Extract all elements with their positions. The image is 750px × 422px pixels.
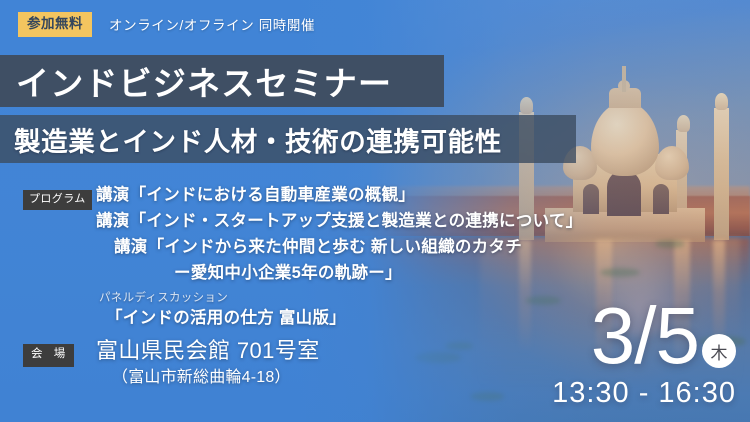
format-note: オンライン/オフライン 同時開催 <box>109 14 315 34</box>
list-item: ー愛知中小企業5年の軌跡ー」 <box>96 260 616 286</box>
main-title-bar: インドビジネスセミナー <box>0 55 444 107</box>
date-row: 3 / 5 木 <box>552 299 736 373</box>
event-day: 5 <box>656 299 700 373</box>
venue-address: （富山市新総曲輪4-18） <box>96 366 320 390</box>
list-item: 講演「インドから来た仲間と歩む 新しい組織のカタチ <box>96 234 616 260</box>
free-admission-badge: 参加無料 <box>18 12 92 37</box>
panel-discussion-label: パネルディスカッション <box>96 290 616 306</box>
event-month: 3 <box>591 299 635 373</box>
event-time: 13:30 - 16:30 <box>552 377 736 410</box>
date-separator: / <box>634 299 655 373</box>
list-item: 講演「インドにおける自動車産業の概観」 <box>96 182 616 208</box>
banner-content: 参加無料 オンライン/オフライン 同時開催 インドビジネスセミナー 製造業とイン… <box>0 0 750 422</box>
schedule-block: 3 / 5 木 13:30 - 16:30 <box>552 299 736 410</box>
venue-block: 富山県民会館 701号室 （富山市新総曲輪4-18） <box>96 336 320 390</box>
day-of-week-badge: 木 <box>702 334 736 368</box>
program-tag-wrapper: プログラム <box>23 189 92 210</box>
venue-tag-wrapper: 会 場 <box>23 344 74 367</box>
header-row: 参加無料 オンライン/オフライン 同時開催 <box>18 12 315 37</box>
venue-name: 富山県民会館 701号室 <box>96 336 320 366</box>
panel-discussion-title: 「インドの活用の仕方 富山版」 <box>96 306 616 330</box>
list-item: 講演「インド・スタートアップ支援と製造業との連携について」 <box>96 208 616 234</box>
page-subtitle: 製造業とインド人材・技術の連携可能性 <box>0 120 502 159</box>
subtitle-bar: 製造業とインド人材・技術の連携可能性 <box>0 115 576 163</box>
page-title: インドビジネスセミナー <box>0 57 392 105</box>
venue-tag: 会 場 <box>23 344 74 367</box>
seminar-banner: 参加無料 オンライン/オフライン 同時開催 インドビジネスセミナー 製造業とイン… <box>0 0 750 422</box>
program-tag: プログラム <box>23 190 92 210</box>
program-list: 講演「インドにおける自動車産業の概観」 講演「インド・スタートアップ支援と製造業… <box>96 182 616 330</box>
